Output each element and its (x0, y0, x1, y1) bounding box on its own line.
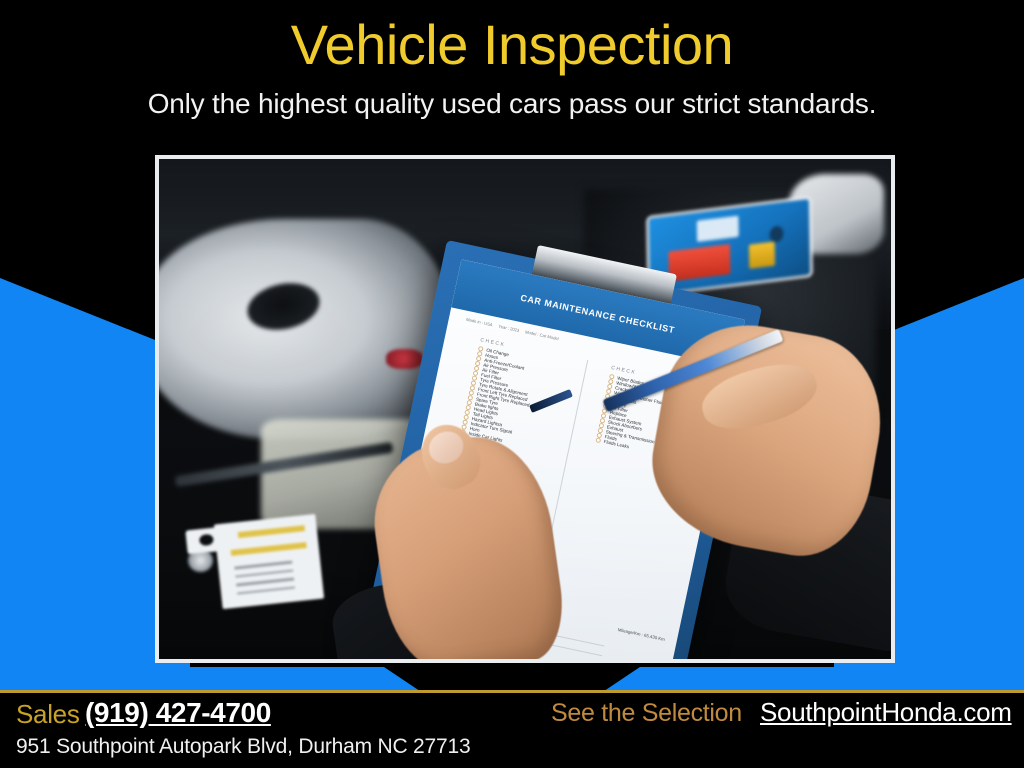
inspection-photo-frame: CAR MAINTENANCE CHECKLIST Made in : USA … (155, 155, 895, 663)
checklist-meta-year: Year : 2023 (497, 324, 519, 333)
ad-banner: Vehicle Inspection Only the highest qual… (0, 0, 1024, 768)
inspection-photo: CAR MAINTENANCE CHECKLIST Made in : USA … (159, 159, 891, 659)
red-cap-icon (386, 349, 423, 369)
page-title: Vehicle Inspection (0, 16, 1024, 75)
footer-sales-label: Sales (16, 699, 80, 730)
footer-see-selection-label: See the Selection (551, 699, 742, 728)
page-subtitle: Only the highest quality used cars pass … (0, 88, 1024, 120)
service-tag-icon (213, 514, 324, 609)
footer-website-link[interactable]: SouthpointHonda.com (760, 697, 1012, 728)
gold-divider (0, 690, 1024, 693)
footer-address: 951 Southpoint Autopark Blvd, Durham NC … (16, 735, 470, 759)
blue-band-notch (0, 667, 1024, 691)
checklist-meta-made: Made in : USA (465, 317, 492, 328)
checklist-meta-model: Model : Car Model (524, 329, 559, 341)
footer-phone-link[interactable]: (919) 427-4700 (85, 697, 271, 729)
engine-cover-icon (159, 219, 452, 439)
battery-label-yellow (749, 241, 775, 268)
checkbox-circle-icon[interactable] (595, 437, 601, 443)
